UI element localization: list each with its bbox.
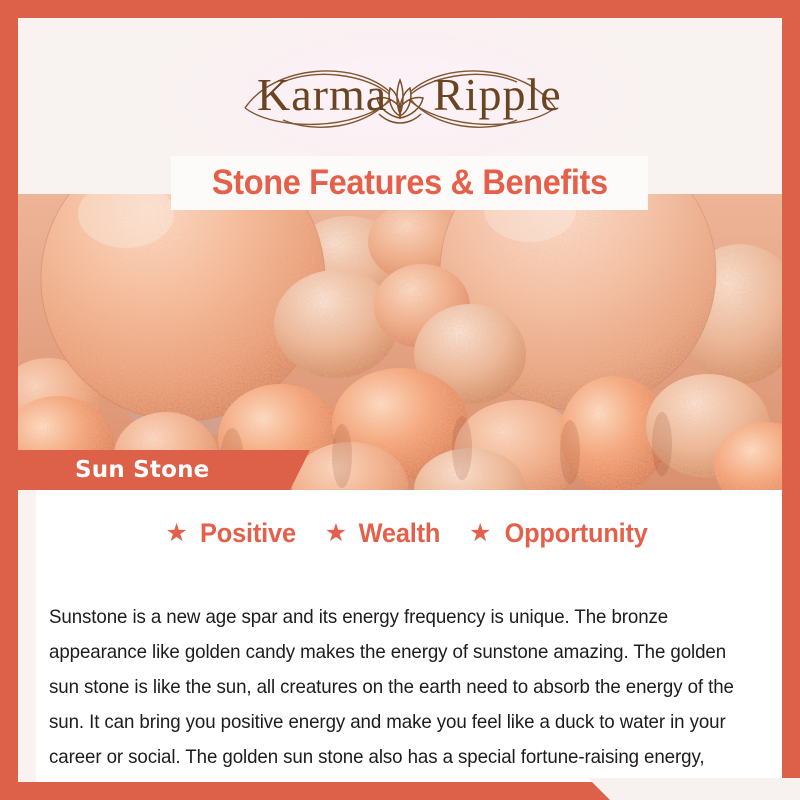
star-icon: ★ [469, 521, 491, 546]
sunstone-photo [18, 194, 782, 490]
keyword-label: Wealth [359, 518, 441, 549]
brand-logo: Karma Ripple [165, 46, 635, 142]
keyword-opportunity: ★ Opportunity [469, 518, 653, 549]
keyword-label: Opportunity [505, 518, 648, 549]
stone-name-label: Sun Stone [75, 457, 209, 483]
brand-name-right: Ripple [433, 69, 562, 120]
keyword-wealth: ★ Wealth [325, 518, 443, 549]
star-icon: ★ [325, 521, 347, 546]
section-title-plate: Stone Features & Benefits [171, 156, 648, 210]
inner-panel: Karma Ripple [18, 18, 782, 782]
bottom-bar-notch [580, 778, 800, 800]
star-icon: ★ [165, 521, 187, 546]
page-title: Stone Features & Benefits [212, 163, 608, 203]
content-card: ★ Positive ★ Wealth ★ Opportunity Sunsto… [36, 490, 782, 782]
keyword-label: Positive [200, 518, 296, 549]
keyword-positive: ★ Positive [165, 518, 298, 549]
stone-name-ribbon: Sun Stone [18, 450, 310, 490]
description-paragraph: Sunstone is a new age spar and its energ… [49, 600, 742, 783]
benefit-keywords: ★ Positive ★ Wealth ★ Opportunity [36, 518, 782, 549]
brand-name-left: Karma [257, 69, 387, 120]
infographic-page: Karma Ripple [0, 0, 800, 800]
